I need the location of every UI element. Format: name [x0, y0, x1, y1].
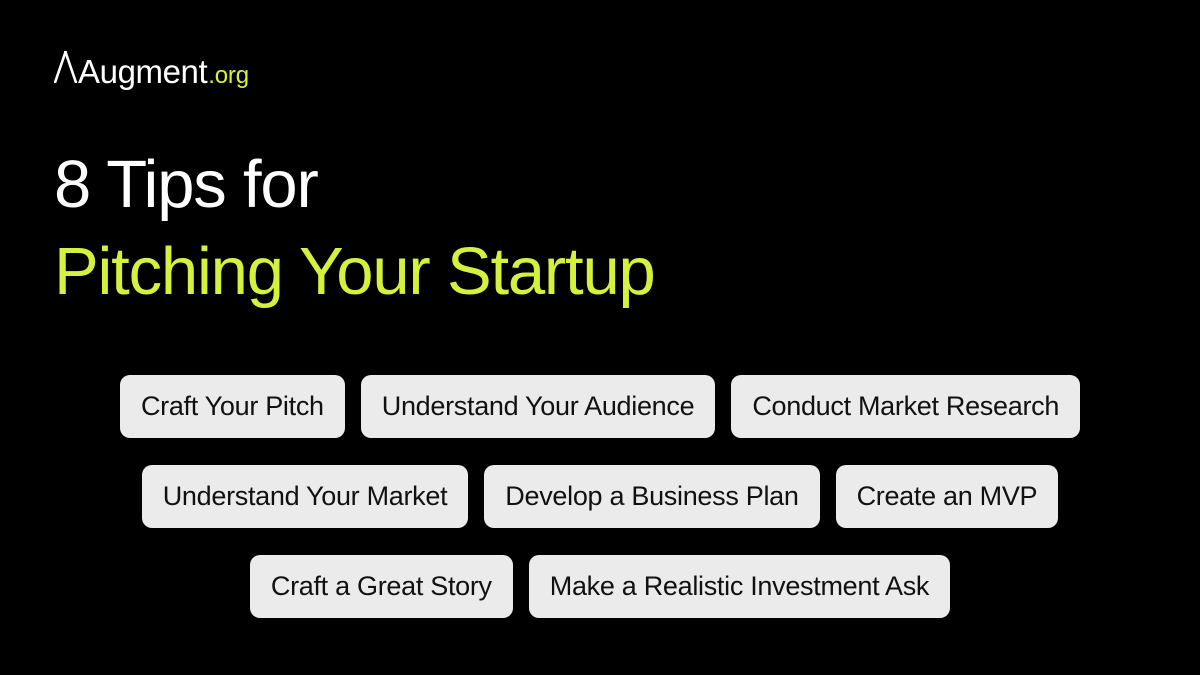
logo-wordmark: Augment: [78, 55, 207, 88]
headline-line-2: Pitching Your Startup: [54, 228, 655, 315]
tip-pill[interactable]: Create an MVP: [836, 465, 1059, 528]
tips-row-2: Understand Your Market Develop a Busines…: [54, 465, 1146, 528]
tips-row-3: Craft a Great Story Make a Realistic Inv…: [54, 555, 1146, 618]
tip-pill[interactable]: Conduct Market Research: [731, 375, 1080, 438]
headline-line-1: 8 Tips for: [54, 141, 655, 228]
tip-pill[interactable]: Make a Realistic Investment Ask: [529, 555, 950, 618]
tips-row-1: Craft Your Pitch Understand Your Audienc…: [54, 375, 1146, 438]
tip-pill[interactable]: Develop a Business Plan: [484, 465, 819, 528]
tip-pill[interactable]: Understand Your Market: [142, 465, 469, 528]
page-title: 8 Tips for Pitching Your Startup: [54, 141, 655, 315]
tips-list: Craft Your Pitch Understand Your Audienc…: [54, 375, 1146, 618]
logo-tld: .org: [208, 64, 249, 88]
tip-pill[interactable]: Craft a Great Story: [250, 555, 513, 618]
brand-logo[interactable]: Augment .org: [54, 51, 249, 88]
lambda-a-icon: [54, 51, 77, 83]
tip-pill[interactable]: Understand Your Audience: [361, 375, 716, 438]
tip-pill[interactable]: Craft Your Pitch: [120, 375, 345, 438]
slide-canvas: Augment .org 8 Tips for Pitching Your St…: [0, 0, 1200, 675]
